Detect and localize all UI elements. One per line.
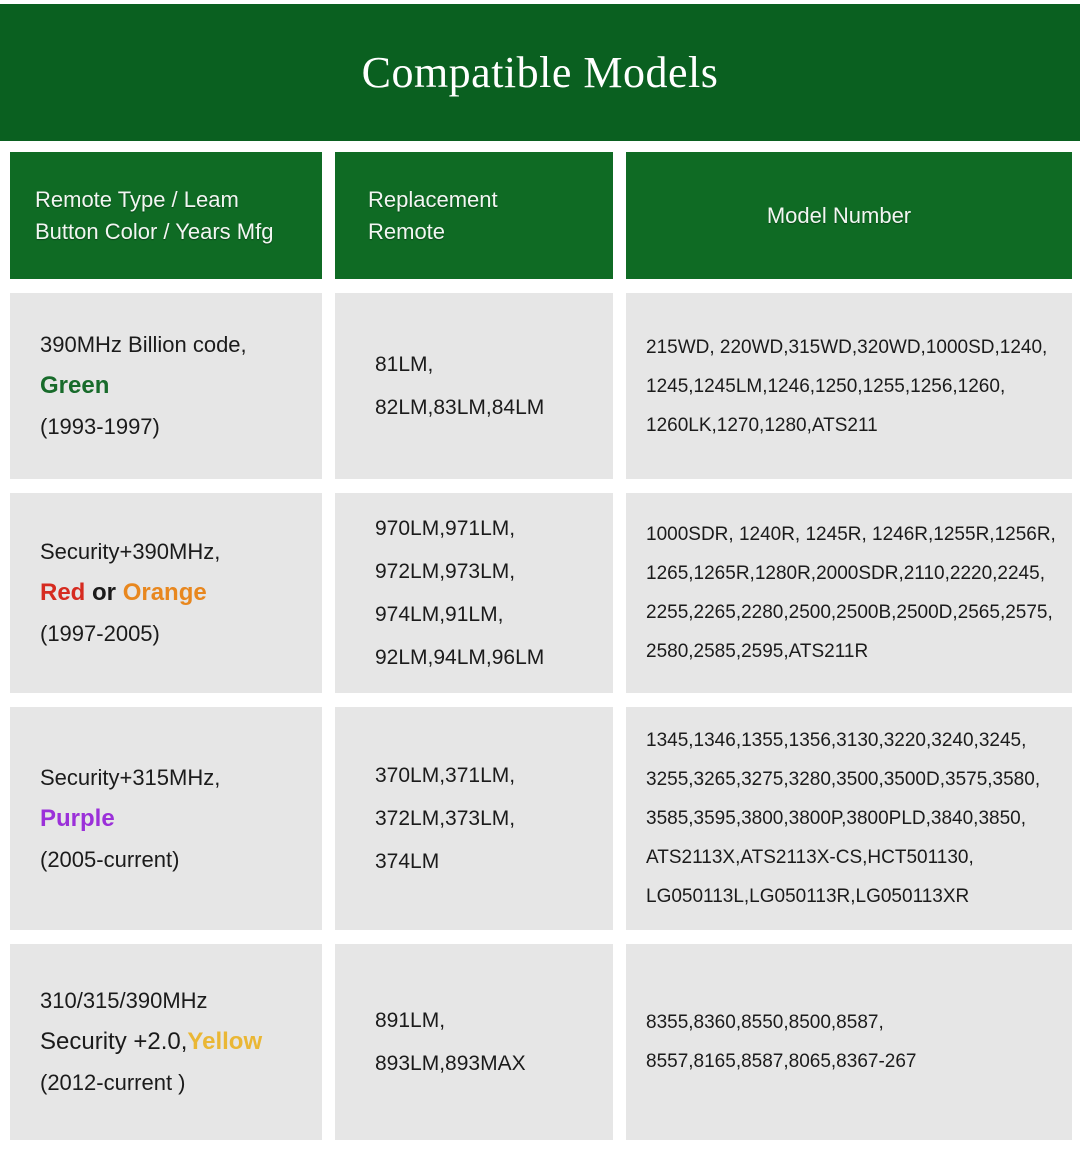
remote-type-segment: Red: [40, 579, 85, 606]
replacement-remote-line: 891LM,: [375, 1010, 591, 1031]
model-number-line: LG050113L,LG050113R,LG050113XR: [646, 887, 1050, 906]
column-header-remote-type-line-2: Button Color / Years Mfg: [35, 216, 302, 247]
column-header-remote-type-line-1: Remote Type / Leam: [35, 184, 302, 215]
table-header-row: Remote Type / Leam Button Color / Years …: [10, 152, 1072, 279]
cell-remote-type: 390MHz Billion code,Green(1993-1997): [10, 293, 322, 479]
replacement-remote-line: 374LM: [375, 851, 591, 872]
cell-model-number: 1345,1346,1355,1356,3130,3220,3240,3245,…: [626, 707, 1072, 930]
cell-remote-type: Security+315MHz,Purple(2005-current): [10, 707, 322, 930]
cell-remote-type: Security+390MHz,Red or Orange(1997-2005): [10, 493, 322, 693]
remote-type-segment: Security +2.0,: [40, 1028, 187, 1055]
model-number-line: 1265,1265R,1280R,2000SDR,2110,2220,2245,: [646, 564, 1050, 583]
remote-type-segment: 310/315/390MHz: [40, 988, 208, 1013]
cell-model-number: 8355,8360,8550,8500,8587,8557,8165,8587,…: [626, 944, 1072, 1140]
cell-remote-type: 310/315/390MHzSecurity +2.0,Yellow(2012-…: [10, 944, 322, 1140]
remote-type-segment: Security+390MHz,: [40, 539, 220, 564]
remote-type-line: Security+390MHz,: [40, 541, 300, 563]
page-title: Compatible Models: [362, 51, 719, 95]
model-number-line: 8557,8165,8587,8065,8367-267: [646, 1052, 1050, 1071]
remote-type-segment: 390MHz Billion code,: [40, 332, 247, 357]
table-row: Security+315MHz,Purple(2005-current)370L…: [10, 707, 1072, 930]
remote-type-line: Green: [40, 374, 300, 398]
table-row: 310/315/390MHzSecurity +2.0,Yellow(2012-…: [10, 944, 1072, 1140]
model-number-line: 2580,2585,2595,ATS211R: [646, 642, 1050, 661]
remote-type-segment: Yellow: [187, 1028, 262, 1055]
replacement-remote-line: 972LM,973LM,: [375, 561, 591, 582]
column-header-replacement-remote-line-1: Replacement: [368, 184, 593, 215]
cell-replacement-remote: 81LM,82LM,83LM,84LM: [335, 293, 613, 479]
remote-type-line: Purple: [40, 807, 300, 831]
model-number-line: 1245,1245LM,1246,1250,1255,1256,1260,: [646, 377, 1050, 396]
cell-replacement-remote: 370LM,371LM,372LM,373LM,374LM: [335, 707, 613, 930]
remote-type-segment: Green: [40, 372, 109, 399]
column-header-remote-type: Remote Type / Leam Button Color / Years …: [10, 152, 322, 279]
replacement-remote-line: 970LM,971LM,: [375, 518, 591, 539]
model-number-line: 2255,2265,2280,2500,2500B,2500D,2565,257…: [646, 603, 1050, 622]
column-header-model-number: Model Number: [626, 152, 1072, 279]
remote-type-segment: or: [85, 579, 122, 606]
remote-type-segment: (2005-current): [40, 847, 179, 872]
model-number-line: 3255,3265,3275,3280,3500,3500D,3575,3580…: [646, 770, 1050, 789]
remote-type-segment: Purple: [40, 805, 115, 832]
table-row: 390MHz Billion code,Green(1993-1997)81LM…: [10, 293, 1072, 479]
replacement-remote-line: 82LM,83LM,84LM: [375, 397, 591, 418]
remote-type-segment: (2012-current ): [40, 1070, 186, 1095]
compatibility-table: Remote Type / Leam Button Color / Years …: [10, 152, 1072, 1154]
replacement-remote-line: 974LM,91LM,: [375, 604, 591, 625]
model-number-line: 1260LK,1270,1280,ATS211: [646, 416, 1050, 435]
model-number-line: 215WD, 220WD,315WD,320WD,1000SD,1240,: [646, 338, 1050, 357]
remote-type-segment: Orange: [123, 579, 207, 606]
replacement-remote-line: 92LM,94LM,96LM: [375, 647, 591, 668]
remote-type-segment: (1993-1997): [40, 414, 160, 439]
remote-type-line: (1993-1997): [40, 416, 300, 438]
model-number-line: ATS2113X,ATS2113X-CS,HCT501130,: [646, 848, 1050, 867]
model-number-line: 1345,1346,1355,1356,3130,3220,3240,3245,: [646, 731, 1050, 750]
title-banner: Compatible Models: [0, 4, 1080, 141]
remote-type-line: (1997-2005): [40, 623, 300, 645]
remote-type-line: Red or Orange: [40, 581, 300, 605]
replacement-remote-line: 372LM,373LM,: [375, 808, 591, 829]
remote-type-segment: (1997-2005): [40, 621, 160, 646]
column-header-replacement-remote: Replacement Remote: [335, 152, 613, 279]
remote-type-line: Security +2.0,Yellow: [40, 1030, 300, 1054]
replacement-remote-line: 81LM,: [375, 354, 591, 375]
cell-replacement-remote: 970LM,971LM,972LM,973LM,974LM,91LM,92LM,…: [335, 493, 613, 693]
remote-type-line: Security+315MHz,: [40, 767, 300, 789]
column-header-model-number-line-1: Model Number: [767, 200, 911, 231]
table-body: 390MHz Billion code,Green(1993-1997)81LM…: [10, 293, 1072, 1140]
replacement-remote-line: 370LM,371LM,: [375, 765, 591, 786]
remote-type-segment: Security+315MHz,: [40, 765, 220, 790]
cell-model-number: 1000SDR, 1240R, 1245R, 1246R,1255R,1256R…: [626, 493, 1072, 693]
remote-type-line: (2012-current ): [40, 1072, 300, 1094]
table-row: Security+390MHz,Red or Orange(1997-2005)…: [10, 493, 1072, 693]
replacement-remote-line: 893LM,893MAX: [375, 1053, 591, 1074]
model-number-line: 3585,3595,3800,3800P,3800PLD,3840,3850,: [646, 809, 1050, 828]
model-number-line: 1000SDR, 1240R, 1245R, 1246R,1255R,1256R…: [646, 525, 1050, 544]
remote-type-line: 390MHz Billion code,: [40, 334, 300, 356]
model-number-line: 8355,8360,8550,8500,8587,: [646, 1013, 1050, 1032]
compatible-models-page: Compatible Models Remote Type / Leam But…: [0, 0, 1080, 1080]
remote-type-line: 310/315/390MHz: [40, 990, 300, 1012]
cell-model-number: 215WD, 220WD,315WD,320WD,1000SD,1240,124…: [626, 293, 1072, 479]
column-header-replacement-remote-line-2: Remote: [368, 216, 593, 247]
cell-replacement-remote: 891LM,893LM,893MAX: [335, 944, 613, 1140]
remote-type-line: (2005-current): [40, 849, 300, 871]
